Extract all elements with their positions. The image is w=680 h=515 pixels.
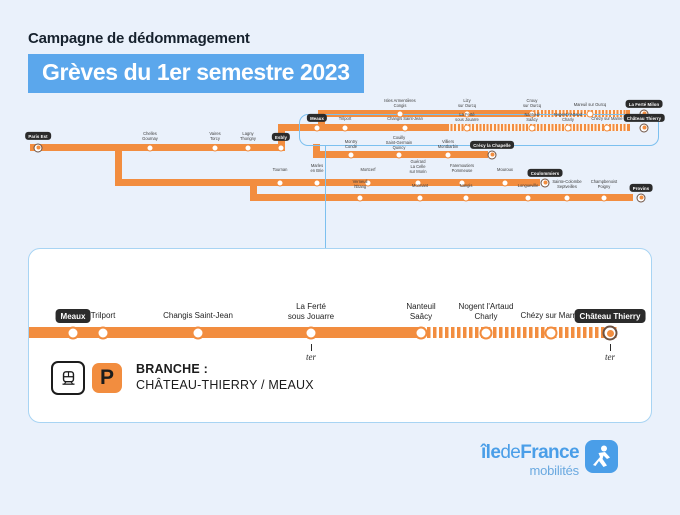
map-slab-paris-est: Paris Est bbox=[25, 132, 51, 140]
map-dot-chezy-sur-marne bbox=[604, 124, 611, 131]
branch-label: BRANCHE : CHÂTEAU-THIERRY / MEAUX bbox=[136, 362, 314, 393]
map-station-faremoutiers: FaremoutiersPommeuse bbox=[450, 163, 474, 173]
map-station-longueville: Longueville bbox=[518, 183, 539, 188]
idfm-logo: îledeFrance mobilités bbox=[481, 440, 618, 477]
panel-dot-nanteuil-saacy bbox=[415, 327, 428, 340]
map-station-nangis: Nangis bbox=[460, 183, 473, 188]
panel-station-chezy-sur-marne: Chézy sur Marne bbox=[521, 311, 582, 321]
map-station-tournan: Tournan bbox=[273, 167, 288, 172]
branch-label-line1: BRANCHE : bbox=[136, 362, 314, 378]
ter-icon-la-ferte: ter bbox=[306, 344, 316, 362]
panel-slab-chateau-thierry: Château Thierry bbox=[575, 309, 646, 323]
line-p-badge: P bbox=[92, 363, 122, 393]
map-station-chelles-gournay: ChellesGournay bbox=[142, 131, 158, 141]
map-station-lagny-thorigny: LagnyThorigny bbox=[240, 131, 256, 141]
panel-station-trilport: Trilport bbox=[91, 311, 116, 321]
map-station-trilport: Trilport bbox=[339, 116, 352, 121]
panel-station-changis-saint-jean: Changis Saint-Jean bbox=[163, 311, 233, 321]
map-station-guerard: GuérardLa Cellesur Morin bbox=[409, 159, 426, 174]
panel-dot-la-ferte-sous-jouarre bbox=[305, 327, 318, 340]
map-slab-esbly: Esbly bbox=[272, 133, 290, 141]
map-dot-sainte-colombe bbox=[564, 194, 571, 201]
branch-line-graphic bbox=[29, 327, 653, 338]
provins-line bbox=[250, 194, 633, 201]
map-dot-longueville bbox=[525, 194, 532, 201]
map-station-couilly: CouillySaint-GermainQuincy bbox=[386, 135, 412, 150]
panel-dot-trilport bbox=[97, 327, 110, 340]
page-title: Grèves du 1er semestre 2023 bbox=[42, 59, 350, 85]
map-station-la-ferte-sous-jouarre: La Fertésous Jouarre bbox=[455, 112, 479, 122]
idfm-logo-mark bbox=[585, 440, 618, 473]
map-station-isles-armentieres: Isles ArmentièresCongis bbox=[384, 98, 415, 108]
map-station-chezy-sur-marne: Chézy sur Marne bbox=[591, 116, 622, 121]
map-dot-tournan bbox=[277, 179, 284, 186]
panel-station-nanteuil-saacy: Nanteuil Saâcy bbox=[406, 302, 435, 322]
map-dot-changis-saint-jean bbox=[402, 124, 409, 131]
map-dot-couilly bbox=[396, 151, 403, 158]
map-station-villiers-montbarbin: VilliersMontbarbin bbox=[438, 139, 458, 149]
train-icon bbox=[51, 361, 85, 395]
map-station-mouroux: Mouroux bbox=[497, 167, 513, 172]
logo-ile: île bbox=[481, 442, 500, 463]
branch-solid-segment bbox=[29, 327, 421, 338]
panel-dot-nogent-lartaud-charly bbox=[480, 327, 493, 340]
map-station-marles-en-brie: Marlesen Brie bbox=[311, 163, 324, 173]
branch-detail-panel: Meaux Trilport Changis Saint-Jean La Fer… bbox=[28, 248, 652, 423]
map-dot-lagny-thorigny bbox=[245, 144, 252, 151]
map-station-sainte-colombe: Sainte-ColombeSeptveilles bbox=[552, 179, 581, 189]
map-station-mortcerf: Mortcerf bbox=[360, 167, 375, 172]
map-station-nogent-lartaud-charly: Nogent l'ArtaudCharly bbox=[554, 112, 582, 122]
network-map: Paris Est ChellesGournay VairesTorcy Lag… bbox=[0, 100, 680, 230]
map-dot-mouroux bbox=[502, 179, 509, 186]
map-dot-mormant bbox=[417, 194, 424, 201]
map-station-lizy-sur-ourcq: Lizysur Ourcq bbox=[458, 98, 476, 108]
map-slab-provins: Provins bbox=[630, 184, 653, 192]
map-slab-chateau-thierry: Château Thierry bbox=[624, 114, 665, 122]
map-station-nanteuil-saacy: NanteuilSaâcy bbox=[524, 112, 539, 122]
map-dot-chelles-gournay bbox=[147, 144, 154, 151]
map-dot-nogent-lartaud-charly bbox=[565, 124, 572, 131]
map-station-mareuil-sur-ourcq: Mareuil sur Ourcq bbox=[574, 102, 607, 107]
map-dot-vaires-torcy bbox=[212, 144, 219, 151]
map-dot-villiers-montbarbin bbox=[445, 151, 452, 158]
map-station-crouy-sur-ourcq: Crouysur Ourcq bbox=[523, 98, 541, 108]
map-station-mormant: Mormant bbox=[412, 183, 428, 188]
panel-station-nogent-lartaud-charly: Nogent l'Artaud Charly bbox=[459, 302, 514, 322]
map-slab-la-ferte-milon: La Ferté Milon bbox=[626, 100, 663, 108]
map-terminus-coulommiers bbox=[541, 178, 550, 187]
map-dot-nangis bbox=[463, 194, 470, 201]
campaign-kicker: Campagne de dédommagement bbox=[28, 30, 364, 47]
map-dot-trilport bbox=[342, 124, 349, 131]
map-slab-meaux: Meaux bbox=[307, 114, 327, 122]
panel-terminus-chateau-thierry bbox=[603, 326, 618, 341]
map-terminus-chateau-thierry bbox=[640, 123, 649, 132]
map-dot-nanteuil-saacy bbox=[529, 124, 536, 131]
map-station-changis-saint-jean: Changis Saint-Jean bbox=[387, 116, 423, 121]
logo-france: France bbox=[520, 442, 579, 463]
ter-icon-chateau-thierry: ter bbox=[605, 344, 615, 362]
idfm-wordmark: îledeFrance mobilités bbox=[481, 440, 579, 477]
poster-header: Campagne de dédommagement Grèves du 1er … bbox=[28, 30, 364, 93]
panel-station-la-ferte-sous-jouarre: La Ferté sous Jouarre bbox=[288, 302, 334, 322]
branch-label-line2: CHÂTEAU-THIERRY / MEAUX bbox=[136, 378, 314, 394]
title-band: Grèves du 1er semestre 2023 bbox=[28, 54, 364, 93]
map-slab-crecy-la-chapelle: Crécy la Chapelle bbox=[470, 141, 514, 149]
map-dot-meaux bbox=[314, 124, 321, 131]
panel-slab-meaux: Meaux bbox=[56, 309, 91, 323]
map-dot-verneuil-letang bbox=[357, 194, 364, 201]
map-terminus-provins bbox=[637, 193, 646, 202]
map-terminus-paris-est bbox=[34, 143, 43, 152]
map-dot-la-ferte-sous-jouarre bbox=[464, 124, 471, 131]
map-terminus-crecy-la-chapelle bbox=[488, 150, 497, 159]
branch-legend: P BRANCHE : CHÂTEAU-THIERRY / MEAUX bbox=[51, 361, 314, 395]
panel-connector bbox=[325, 146, 326, 250]
logo-de: de bbox=[500, 442, 520, 463]
idfm-wordmark-line1: îledeFrance bbox=[481, 443, 579, 462]
idfm-wordmark-line2: mobilités bbox=[481, 464, 579, 477]
branch-hatched-segment bbox=[421, 327, 617, 338]
map-station-verneuil-letang: Verneuill'Étang bbox=[353, 179, 368, 189]
map-station-vaires-torcy: VairesTorcy bbox=[209, 131, 220, 141]
panel-dot-changis-saint-jean bbox=[192, 327, 205, 340]
map-dot-esbly bbox=[278, 144, 285, 151]
map-station-montry-conde: MontryCondé bbox=[345, 139, 358, 149]
map-station-champbenoist-poigny: ChampbenoistPoigny bbox=[591, 179, 617, 189]
map-dot-champbenoist-poigny bbox=[601, 194, 608, 201]
panel-dot-chezy-sur-marne bbox=[545, 327, 558, 340]
map-dot-montry-conde bbox=[348, 151, 355, 158]
coulommiers-line bbox=[115, 179, 540, 186]
map-slab-coulommiers: Coulommiers bbox=[528, 169, 563, 177]
map-dot-marles-en-brie bbox=[314, 179, 321, 186]
panel-dot-meaux bbox=[67, 327, 80, 340]
